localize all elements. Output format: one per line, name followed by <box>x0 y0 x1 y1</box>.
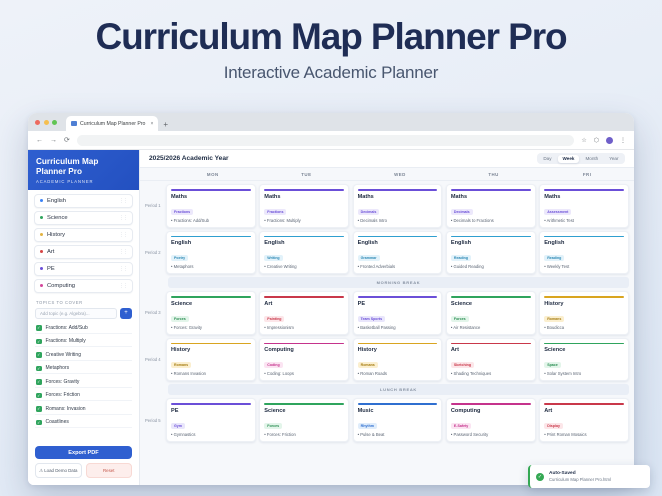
close-tab-icon[interactable]: × <box>150 121 153 127</box>
subject-color-dot <box>40 216 43 219</box>
lesson-item: • Gymnastics <box>171 432 251 437</box>
subject-color-bar <box>358 403 438 405</box>
subject-color-bar <box>171 189 251 191</box>
subject-color-bar <box>544 296 624 298</box>
subject-label: Science <box>47 215 68 221</box>
subject-color-bar <box>171 236 251 238</box>
load-demo-data-button[interactable]: ⚠ Load Demo Data <box>35 463 82 478</box>
sidebar-brand-subtitle: ACADEMIC PLANNER <box>36 179 131 184</box>
period-row: Period 5PEGym• GymnasticsScienceForces• … <box>143 398 629 442</box>
lesson-item: • Basketball Passing <box>358 325 438 330</box>
export-pdf-button[interactable]: Export PDF <box>35 446 132 459</box>
subject-color-bar <box>544 236 624 238</box>
period-label: Period 5 <box>143 398 166 442</box>
lesson-topic-badge: Poetry <box>171 255 188 261</box>
lesson-item: • Metaphors <box>171 264 251 269</box>
topic-label: Fractions: Add/Sub <box>46 325 88 331</box>
subject-color-bar <box>171 403 251 405</box>
sidebar-item-english[interactable]: English⋮⋮ <box>34 194 133 208</box>
topic-label: Forces: Gravity <box>46 379 80 385</box>
topic-label: Romans: Invasion <box>46 406 86 412</box>
browser-toolbar: ← → ⟳ ☆ ⬡ ⋮ <box>28 131 634 150</box>
lesson-card[interactable]: ArtSketching• Shading Techniques <box>446 338 536 382</box>
lesson-topic-badge: Reading <box>544 255 564 261</box>
lesson-item: • Pulse & Beat <box>358 432 438 437</box>
subject-color-bar <box>451 343 531 345</box>
subject-color-bar <box>544 189 624 191</box>
lesson-topic-badge: Fractions <box>171 209 193 215</box>
sidebar: Curriculum Map Planner Pro ACADEMIC PLAN… <box>28 150 140 485</box>
lesson-card[interactable]: ComputingCoding• Coding: Loops <box>259 338 349 382</box>
minimize-window-icon[interactable] <box>44 120 49 125</box>
lesson-card[interactable]: EnglishPoetry• Metaphors <box>166 231 256 275</box>
topic-checkbox[interactable]: ✓ <box>36 366 42 372</box>
reload-icon[interactable]: ⟳ <box>64 136 70 144</box>
period-cells: HistoryRomans• Romans InvasionComputingC… <box>166 338 629 382</box>
lesson-card[interactable]: HistoryRomans• Roman Roads <box>353 338 443 382</box>
lesson-topic-badge: Assessment <box>544 209 571 215</box>
hero-header: Curriculum Map Planner Pro Interactive A… <box>0 0 662 83</box>
lesson-item: • Weekly Test <box>544 264 624 269</box>
day-header-row: MONTUEWEDTHUFRI <box>140 168 634 181</box>
topic-checkbox[interactable]: ✓ <box>36 393 42 399</box>
drag-handle-icon[interactable]: ⋮⋮ <box>119 283 127 289</box>
topic-label: Fractions: Multiply <box>46 338 86 344</box>
check-circle-icon: ✓ <box>536 473 544 481</box>
lesson-item: • Arithmetic Test <box>544 218 624 223</box>
profile-avatar[interactable] <box>606 137 613 144</box>
browser-tab[interactable]: Curriculum Map Planner Pro × <box>66 116 158 131</box>
subject-color-bar <box>171 343 251 345</box>
lesson-item: • Password Security <box>451 432 531 437</box>
subject-label: PE <box>47 266 55 272</box>
lesson-topic-badge: Team Sports <box>358 316 386 322</box>
lesson-item: • Fronted Adverbials <box>358 264 438 269</box>
lesson-card[interactable]: ScienceSpace• Solar System Intro <box>539 338 629 382</box>
main-panel: 2025/2026 Academic Year DayWeekMonthYear… <box>140 150 634 485</box>
lesson-topic-badge: Space <box>544 362 561 368</box>
lesson-topic-badge: Rhythm <box>358 423 377 429</box>
period-row: Period 1MathsFractions• Fractions: Add/S… <box>143 184 629 228</box>
subject-color-bar <box>451 189 531 191</box>
topic-checkbox[interactable]: ✓ <box>36 420 42 426</box>
lesson-item: • Decimals to Fractions <box>451 218 531 223</box>
lesson-topic-badge: Forces <box>171 316 189 322</box>
lesson-topic-badge: Fractions <box>264 209 286 215</box>
topic-item[interactable]: ✓Forces: Gravity <box>35 377 132 388</box>
period-label: Period 4 <box>143 338 166 382</box>
break-row: LUNCH BREAK <box>168 384 629 395</box>
period-cells: ScienceForces• Forces: GravityArtPaintin… <box>166 291 629 335</box>
lesson-card[interactable]: ArtPainting• Impressionism <box>259 291 349 335</box>
topic-checkbox[interactable]: ✓ <box>36 339 42 345</box>
toast-title: Auto-Saved <box>549 471 611 476</box>
reset-button[interactable]: Reset <box>86 463 133 478</box>
lesson-card[interactable]: MathsFractions• Fractions: Multiply <box>259 184 349 228</box>
lesson-item: • Decimals Intro <box>358 218 438 223</box>
main-header: 2025/2026 Academic Year DayWeekMonthYear <box>140 150 634 168</box>
topic-checkbox[interactable]: ✓ <box>36 379 42 385</box>
view-button-day[interactable]: Day <box>538 155 556 163</box>
lesson-topic-badge: Forces <box>451 316 469 322</box>
lesson-card[interactable]: EnglishWriting• Creative Writing <box>259 231 349 275</box>
topic-checkbox[interactable]: ✓ <box>36 352 42 358</box>
page-title: Curriculum Map Planner Pro <box>0 18 662 57</box>
subject-color-bar <box>358 236 438 238</box>
lesson-item: • Coding: Loops <box>264 371 344 376</box>
period-label: Period 1 <box>143 184 166 228</box>
lesson-card[interactable]: EnglishGrammar• Fronted Adverbials <box>353 231 443 275</box>
forward-icon[interactable]: → <box>50 137 57 144</box>
back-icon[interactable]: ← <box>36 137 43 144</box>
subject-color-bar <box>451 296 531 298</box>
lesson-item: • Guided Reading <box>451 264 531 269</box>
subject-color-dot <box>40 199 43 202</box>
sidebar-item-art[interactable]: Art⋮⋮ <box>34 245 133 259</box>
subject-color-bar <box>358 296 438 298</box>
lesson-card[interactable]: MathsFractions• Fractions: Add/Sub <box>166 184 256 228</box>
lesson-topic-badge: Painting <box>264 316 284 322</box>
lesson-item: • Fractions: Multiply <box>264 218 344 223</box>
topic-item[interactable]: ✓Coastlines <box>35 417 132 428</box>
topic-item[interactable]: ✓Forces: Friction <box>35 390 132 401</box>
view-toggle[interactable]: DayWeekMonthYear <box>537 153 625 164</box>
browser-menu-icon[interactable]: ⋮ <box>620 137 626 144</box>
drag-handle-icon[interactable]: ⋮⋮ <box>119 198 127 204</box>
day-header-mon: MON <box>166 172 260 177</box>
lesson-item: • Solar System Intro <box>544 371 624 376</box>
lesson-item: • Romans Invasion <box>171 371 251 376</box>
subject-color-bar <box>264 189 344 191</box>
timetable-grid: Period 1MathsFractions• Fractions: Add/S… <box>140 181 634 485</box>
period-cells: PEGym• GymnasticsScienceForces• Forces: … <box>166 398 629 442</box>
sidebar-brand-title: Curriculum Map Planner Pro <box>36 157 131 176</box>
lesson-card[interactable]: PETeam Sports• Basketball Passing <box>353 291 443 335</box>
lesson-topic-badge: Decimals <box>451 209 473 215</box>
subject-color-dot <box>40 250 43 253</box>
view-button-week[interactable]: Week <box>558 155 580 163</box>
lesson-card[interactable]: ComputingE-Safety• Password Security <box>446 398 536 442</box>
lesson-topic-badge: Coding <box>264 362 282 368</box>
subject-label: English <box>47 198 66 204</box>
subject-label: Computing <box>47 283 75 289</box>
lesson-card[interactable]: ScienceForces• Air Resistance <box>446 291 536 335</box>
lesson-card[interactable]: ScienceForces• Forces: Gravity <box>166 291 256 335</box>
lesson-card[interactable]: ArtDisplay• Print Roman Mosaics <box>539 398 629 442</box>
subject-color-bar <box>358 343 438 345</box>
sidebar-item-science[interactable]: Science⋮⋮ <box>34 211 133 225</box>
toast-subtitle: Curriculum Map Planner Pro.html <box>549 477 611 482</box>
subject-color-bar <box>264 343 344 345</box>
lesson-card[interactable]: EnglishReading• Guided Reading <box>446 231 536 275</box>
subject-color-bar <box>451 403 531 405</box>
application-body: Curriculum Map Planner Pro ACADEMIC PLAN… <box>28 150 634 485</box>
bookmark-star-icon[interactable]: ☆ <box>581 137 586 144</box>
subject-color-dot <box>40 233 43 236</box>
topic-checkbox[interactable]: ✓ <box>36 325 42 331</box>
view-button-month[interactable]: Month <box>580 155 603 163</box>
subject-label: Art <box>47 249 54 255</box>
lesson-topic-badge: Display <box>544 423 563 429</box>
lesson-item: • Roman Roads <box>358 371 438 376</box>
topic-item[interactable]: ✓Metaphors <box>35 363 132 374</box>
academic-year-title: 2025/2026 Academic Year <box>149 155 229 162</box>
subject-color-bar <box>264 296 344 298</box>
lesson-item: • Impressionism <box>264 325 344 330</box>
close-window-icon[interactable] <box>35 120 40 125</box>
lesson-card[interactable]: MathsDecimals• Decimals Intro <box>353 184 443 228</box>
sidebar-actions: Export PDF ⚠ Load Demo Data Reset <box>28 442 139 485</box>
lesson-card[interactable]: EnglishReading• Weekly Test <box>539 231 629 275</box>
subject-list: English⋮⋮Science⋮⋮History⋮⋮Art⋮⋮PE⋮⋮Comp… <box>28 190 139 295</box>
topic-checkbox[interactable]: ✓ <box>36 406 42 412</box>
address-bar[interactable] <box>77 135 574 146</box>
lesson-topic-badge: Grammar <box>358 255 380 261</box>
lesson-item: • Creative Writing <box>264 264 344 269</box>
drag-handle-icon[interactable]: ⋮⋮ <box>119 232 127 238</box>
sidebar-brand: Curriculum Map Planner Pro ACADEMIC PLAN… <box>28 150 139 190</box>
subject-color-bar <box>358 189 438 191</box>
lesson-card[interactable]: PEGym• Gymnastics <box>166 398 256 442</box>
lesson-topic-badge: E-Safety <box>451 423 471 429</box>
topic-list: ✓Fractions: Add/Sub✓Fractions: Multiply✓… <box>28 323 139 442</box>
topic-label: Metaphors <box>46 365 70 371</box>
lesson-item: • Boudicca <box>544 325 624 330</box>
maximize-window-icon[interactable] <box>52 120 57 125</box>
topic-item[interactable]: ✓Fractions: Add/Sub <box>35 323 132 334</box>
subject-color-bar <box>451 236 531 238</box>
subject-label: History <box>47 232 65 238</box>
drag-handle-icon[interactable]: ⋮⋮ <box>119 249 127 255</box>
period-cells: EnglishPoetry• MetaphorsEnglishWriting• … <box>166 231 629 275</box>
day-header-thu: THU <box>447 172 541 177</box>
topic-item[interactable]: ✓Romans: Invasion <box>35 404 132 415</box>
subject-color-bar <box>171 296 251 298</box>
sidebar-item-pe[interactable]: PE⋮⋮ <box>34 262 133 276</box>
lesson-topic-badge: Gym <box>171 423 185 429</box>
period-row: Period 2EnglishPoetry• MetaphorsEnglishW… <box>143 231 629 275</box>
add-topic-button[interactable]: + <box>120 308 132 319</box>
lesson-topic-badge: Forces <box>264 423 282 429</box>
subject-color-bar <box>264 236 344 238</box>
period-label: Period 3 <box>143 291 166 335</box>
view-button-year[interactable]: Year <box>604 155 623 163</box>
lesson-card[interactable]: ScienceForces• Forces: Friction <box>259 398 349 442</box>
browser-tab-label: Curriculum Map Planner Pro <box>80 121 145 127</box>
day-header-fri: FRI <box>540 172 634 177</box>
autosave-toast: ✓ Auto-Saved Curriculum Map Planner Pro.… <box>528 465 650 488</box>
topic-item[interactable]: ✓Creative Writing <box>35 350 132 361</box>
period-row: Period 4HistoryRomans• Romans InvasionCo… <box>143 338 629 382</box>
lesson-topic-badge: Reading <box>451 255 471 261</box>
lesson-topic-badge: Romans <box>358 362 378 368</box>
lesson-item: • Print Roman Mosaics <box>544 432 624 437</box>
lesson-item: • Forces: Gravity <box>171 325 251 330</box>
browser-tabstrip: Curriculum Map Planner Pro × + <box>28 113 634 131</box>
subject-color-bar <box>544 343 624 345</box>
lesson-topic-badge: Romans <box>544 316 564 322</box>
add-topic-row: Add topic (e.g. Algebra)... + <box>28 308 139 323</box>
lesson-item: • Fractions: Add/Sub <box>171 218 251 223</box>
lesson-topic-badge: Writing <box>264 255 282 261</box>
drag-handle-icon[interactable]: ⋮⋮ <box>119 215 127 221</box>
lesson-topic-badge: Sketching <box>451 362 474 368</box>
lesson-topic-badge: Romans <box>171 362 191 368</box>
subject-color-bar <box>264 403 344 405</box>
period-cells: MathsFractions• Fractions: Add/SubMathsF… <box>166 184 629 228</box>
lesson-card[interactable]: MathsDecimals• Decimals to Fractions <box>446 184 536 228</box>
topic-label: Creative Writing <box>46 352 81 358</box>
break-row: MORNING BREAK <box>168 277 629 288</box>
day-header-wed: WED <box>353 172 447 177</box>
sidebar-item-computing[interactable]: Computing⋮⋮ <box>34 279 133 293</box>
new-tab-icon[interactable]: + <box>163 120 168 131</box>
period-label: Period 2 <box>143 231 166 275</box>
window-controls[interactable] <box>35 113 61 131</box>
lesson-item: • Shading Techniques <box>451 371 531 376</box>
day-header-tue: TUE <box>260 172 354 177</box>
favicon-icon <box>71 121 77 126</box>
lesson-card[interactable]: HistoryRomans• Boudicca <box>539 291 629 335</box>
subject-color-dot <box>40 284 43 287</box>
topic-label: Forces: Friction <box>46 392 80 398</box>
page-subtitle: Interactive Academic Planner <box>0 63 662 83</box>
lesson-card[interactable]: MathsAssessment• Arithmetic Test <box>539 184 629 228</box>
extensions-icon[interactable]: ⬡ <box>594 137 599 144</box>
browser-window: Curriculum Map Planner Pro × + ← → ⟳ ☆ ⬡… <box>28 113 634 485</box>
add-topic-input[interactable]: Add topic (e.g. Algebra)... <box>35 308 117 319</box>
topics-header: TOPICS TO COVER <box>28 295 139 308</box>
lesson-item: • Air Resistance <box>451 325 531 330</box>
drag-handle-icon[interactable]: ⋮⋮ <box>119 266 127 272</box>
lesson-card[interactable]: HistoryRomans• Romans Invasion <box>166 338 256 382</box>
period-row: Period 3ScienceForces• Forces: GravityAr… <box>143 291 629 335</box>
subject-color-bar <box>544 403 624 405</box>
topic-label: Coastlines <box>46 419 69 425</box>
topic-item[interactable]: ✓Fractions: Multiply <box>35 336 132 347</box>
lesson-card[interactable]: MusicRhythm• Pulse & Beat <box>353 398 443 442</box>
subject-color-dot <box>40 267 43 270</box>
lesson-item: • Forces: Friction <box>264 432 344 437</box>
sidebar-item-history[interactable]: History⋮⋮ <box>34 228 133 242</box>
lesson-topic-badge: Decimals <box>358 209 380 215</box>
